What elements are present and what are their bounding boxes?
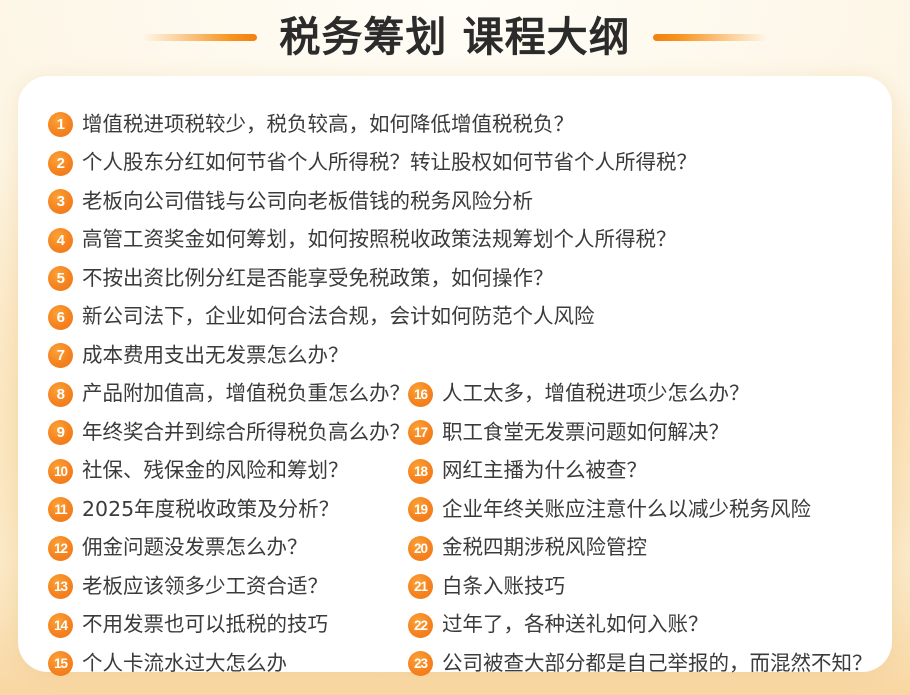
outline-item: 9年终奖合并到综合所得税负高么办？: [48, 414, 410, 451]
outline-item-number-badge: 16: [408, 382, 433, 407]
outline-item-text: 企业年终关账应注意什么以减少税务风险: [442, 498, 811, 522]
outline-item-text: 公司被查大部分都是自己举报的，而混然不知？: [442, 652, 873, 676]
outline-item-number-badge: 2: [48, 151, 73, 176]
outline-item-text: 金税四期涉税风险管控: [442, 536, 647, 560]
outline-item-text: 增值税进项税较少，税负较高，如何降低增值税税负？: [82, 113, 574, 137]
outline-item: 10社保、残保金的风险和筹划？: [48, 453, 349, 490]
outline-item-text: 老板向公司借钱与公司向老板借钱的税务风险分析: [82, 190, 533, 214]
outline-item-text: 高管工资奖金如何筹划，如何按照税收政策法规筹划个人所得税？: [82, 228, 677, 252]
title-dash-right-icon: [653, 34, 768, 41]
outline-item-number-badge: 4: [48, 228, 73, 253]
page-title: 税务筹划 课程大纲: [279, 17, 630, 58]
outline-card: 1增值税进项税较少，税负较高，如何降低增值税税负？2个人股东分红如何节省个人所得…: [18, 76, 892, 672]
outline-item-number-badge: 23: [408, 651, 433, 676]
outline-item-number-badge: 21: [408, 574, 433, 599]
outline-item: 5不按出资比例分红是否能享受免税政策，如何操作？: [48, 260, 554, 297]
outline-item: 23公司被查大部分都是自己举报的，而混然不知？: [408, 645, 873, 682]
outline-item-text: 新公司法下，企业如何合法合规，会计如何防范个人风险: [82, 305, 595, 329]
outline-item: 17职工食堂无发票问题如何解决？: [408, 414, 729, 451]
outline-item-number-badge: 11: [48, 497, 73, 522]
outline-item: 1增值税进项税较少，税负较高，如何降低增值税税负？: [48, 106, 574, 143]
outline-item: 4高管工资奖金如何筹划，如何按照税收政策法规筹划个人所得税？: [48, 222, 677, 259]
outline-item: 13老板应该领多少工资合适？: [48, 568, 328, 605]
outline-item: 20金税四期涉税风险管控: [408, 530, 647, 567]
outline-item: 22过年了，各种送礼如何入账？: [408, 607, 709, 644]
outline-item-text: 过年了，各种送礼如何入账？: [442, 613, 709, 637]
outline-item: 3老板向公司借钱与公司向老板借钱的税务风险分析: [48, 183, 533, 220]
outline-item-text: 个人股东分红如何节省个人所得税？转让股权如何节省个人所得税？: [82, 151, 697, 175]
outline-item: 14不用发票也可以抵税的技巧: [48, 607, 328, 644]
outline-item-text: 社保、残保金的风险和筹划？: [82, 459, 349, 483]
outline-item: 8产品附加值高，增值税负重怎么办？: [48, 376, 410, 413]
outline-item-text: 人工太多，增值税进项少怎么办？: [442, 382, 750, 406]
outline-item-number-badge: 17: [408, 420, 433, 445]
outline-item-number-badge: 8: [48, 382, 73, 407]
outline-item-text: 网红主播为什么被查？: [442, 459, 647, 483]
outline-item: 7成本费用支出无发票怎么办？: [48, 337, 349, 374]
outline-item-number-badge: 15: [48, 651, 73, 676]
outline-item: 21白条入账技巧: [408, 568, 565, 605]
outline-item: 112025年度税收政策及分析？: [48, 491, 339, 528]
outline-item-number-badge: 7: [48, 343, 73, 368]
outline-item-number-badge: 9: [48, 420, 73, 445]
outline-item-number-badge: 5: [48, 266, 73, 291]
outline-item-number-badge: 13: [48, 574, 73, 599]
outline-item-number-badge: 14: [48, 613, 73, 638]
outline-item-number-badge: 20: [408, 536, 433, 561]
outline-item: 19企业年终关账应注意什么以减少税务风险: [408, 491, 811, 528]
outline-item-text: 个人卡流水过大怎么办: [82, 652, 287, 676]
outline-item-text: 不用发票也可以抵税的技巧: [82, 613, 328, 637]
outline-item: 16人工太多，增值税进项少怎么办？: [408, 376, 750, 413]
outline-item-number-badge: 22: [408, 613, 433, 638]
outline-item-text: 老板应该领多少工资合适？: [82, 575, 328, 599]
outline-item-number-badge: 19: [408, 497, 433, 522]
outline-item-number-badge: 18: [408, 459, 433, 484]
outline-item-number-badge: 1: [48, 112, 73, 137]
outline-item-text: 佣金问题没发票怎么办？: [82, 536, 308, 560]
outline-item-text: 2025年度税收政策及分析？: [82, 498, 339, 522]
outline-item: 15个人卡流水过大怎么办: [48, 645, 287, 682]
outline-item-text: 职工食堂无发票问题如何解决？: [442, 421, 729, 445]
outline-item-number-badge: 6: [48, 305, 73, 330]
outline-item-text: 产品附加值高，增值税负重怎么办？: [82, 382, 410, 406]
outline-item-number-badge: 3: [48, 189, 73, 214]
outline-item: 6新公司法下，企业如何合法合规，会计如何防范个人风险: [48, 299, 595, 336]
outline-item-text: 成本费用支出无发票怎么办？: [82, 344, 349, 368]
outline-item-text: 不按出资比例分红是否能享受免税政策，如何操作？: [82, 267, 554, 291]
page-header: 税务筹划 课程大纲: [0, 0, 910, 75]
outline-item-text: 年终奖合并到综合所得税负高么办？: [82, 421, 410, 445]
outline-item: 18网红主播为什么被查？: [408, 453, 647, 490]
title-dash-left-icon: [142, 34, 257, 41]
outline-item: 2个人股东分红如何节省个人所得税？转让股权如何节省个人所得税？: [48, 145, 697, 182]
outline-item-number-badge: 10: [48, 459, 73, 484]
outline-list: 1增值税进项税较少，税负较高，如何降低增值税税负？2个人股东分红如何节省个人所得…: [18, 76, 892, 672]
outline-item: 12佣金问题没发票怎么办？: [48, 530, 308, 567]
outline-item-number-badge: 12: [48, 536, 73, 561]
outline-item-text: 白条入账技巧: [442, 575, 565, 599]
